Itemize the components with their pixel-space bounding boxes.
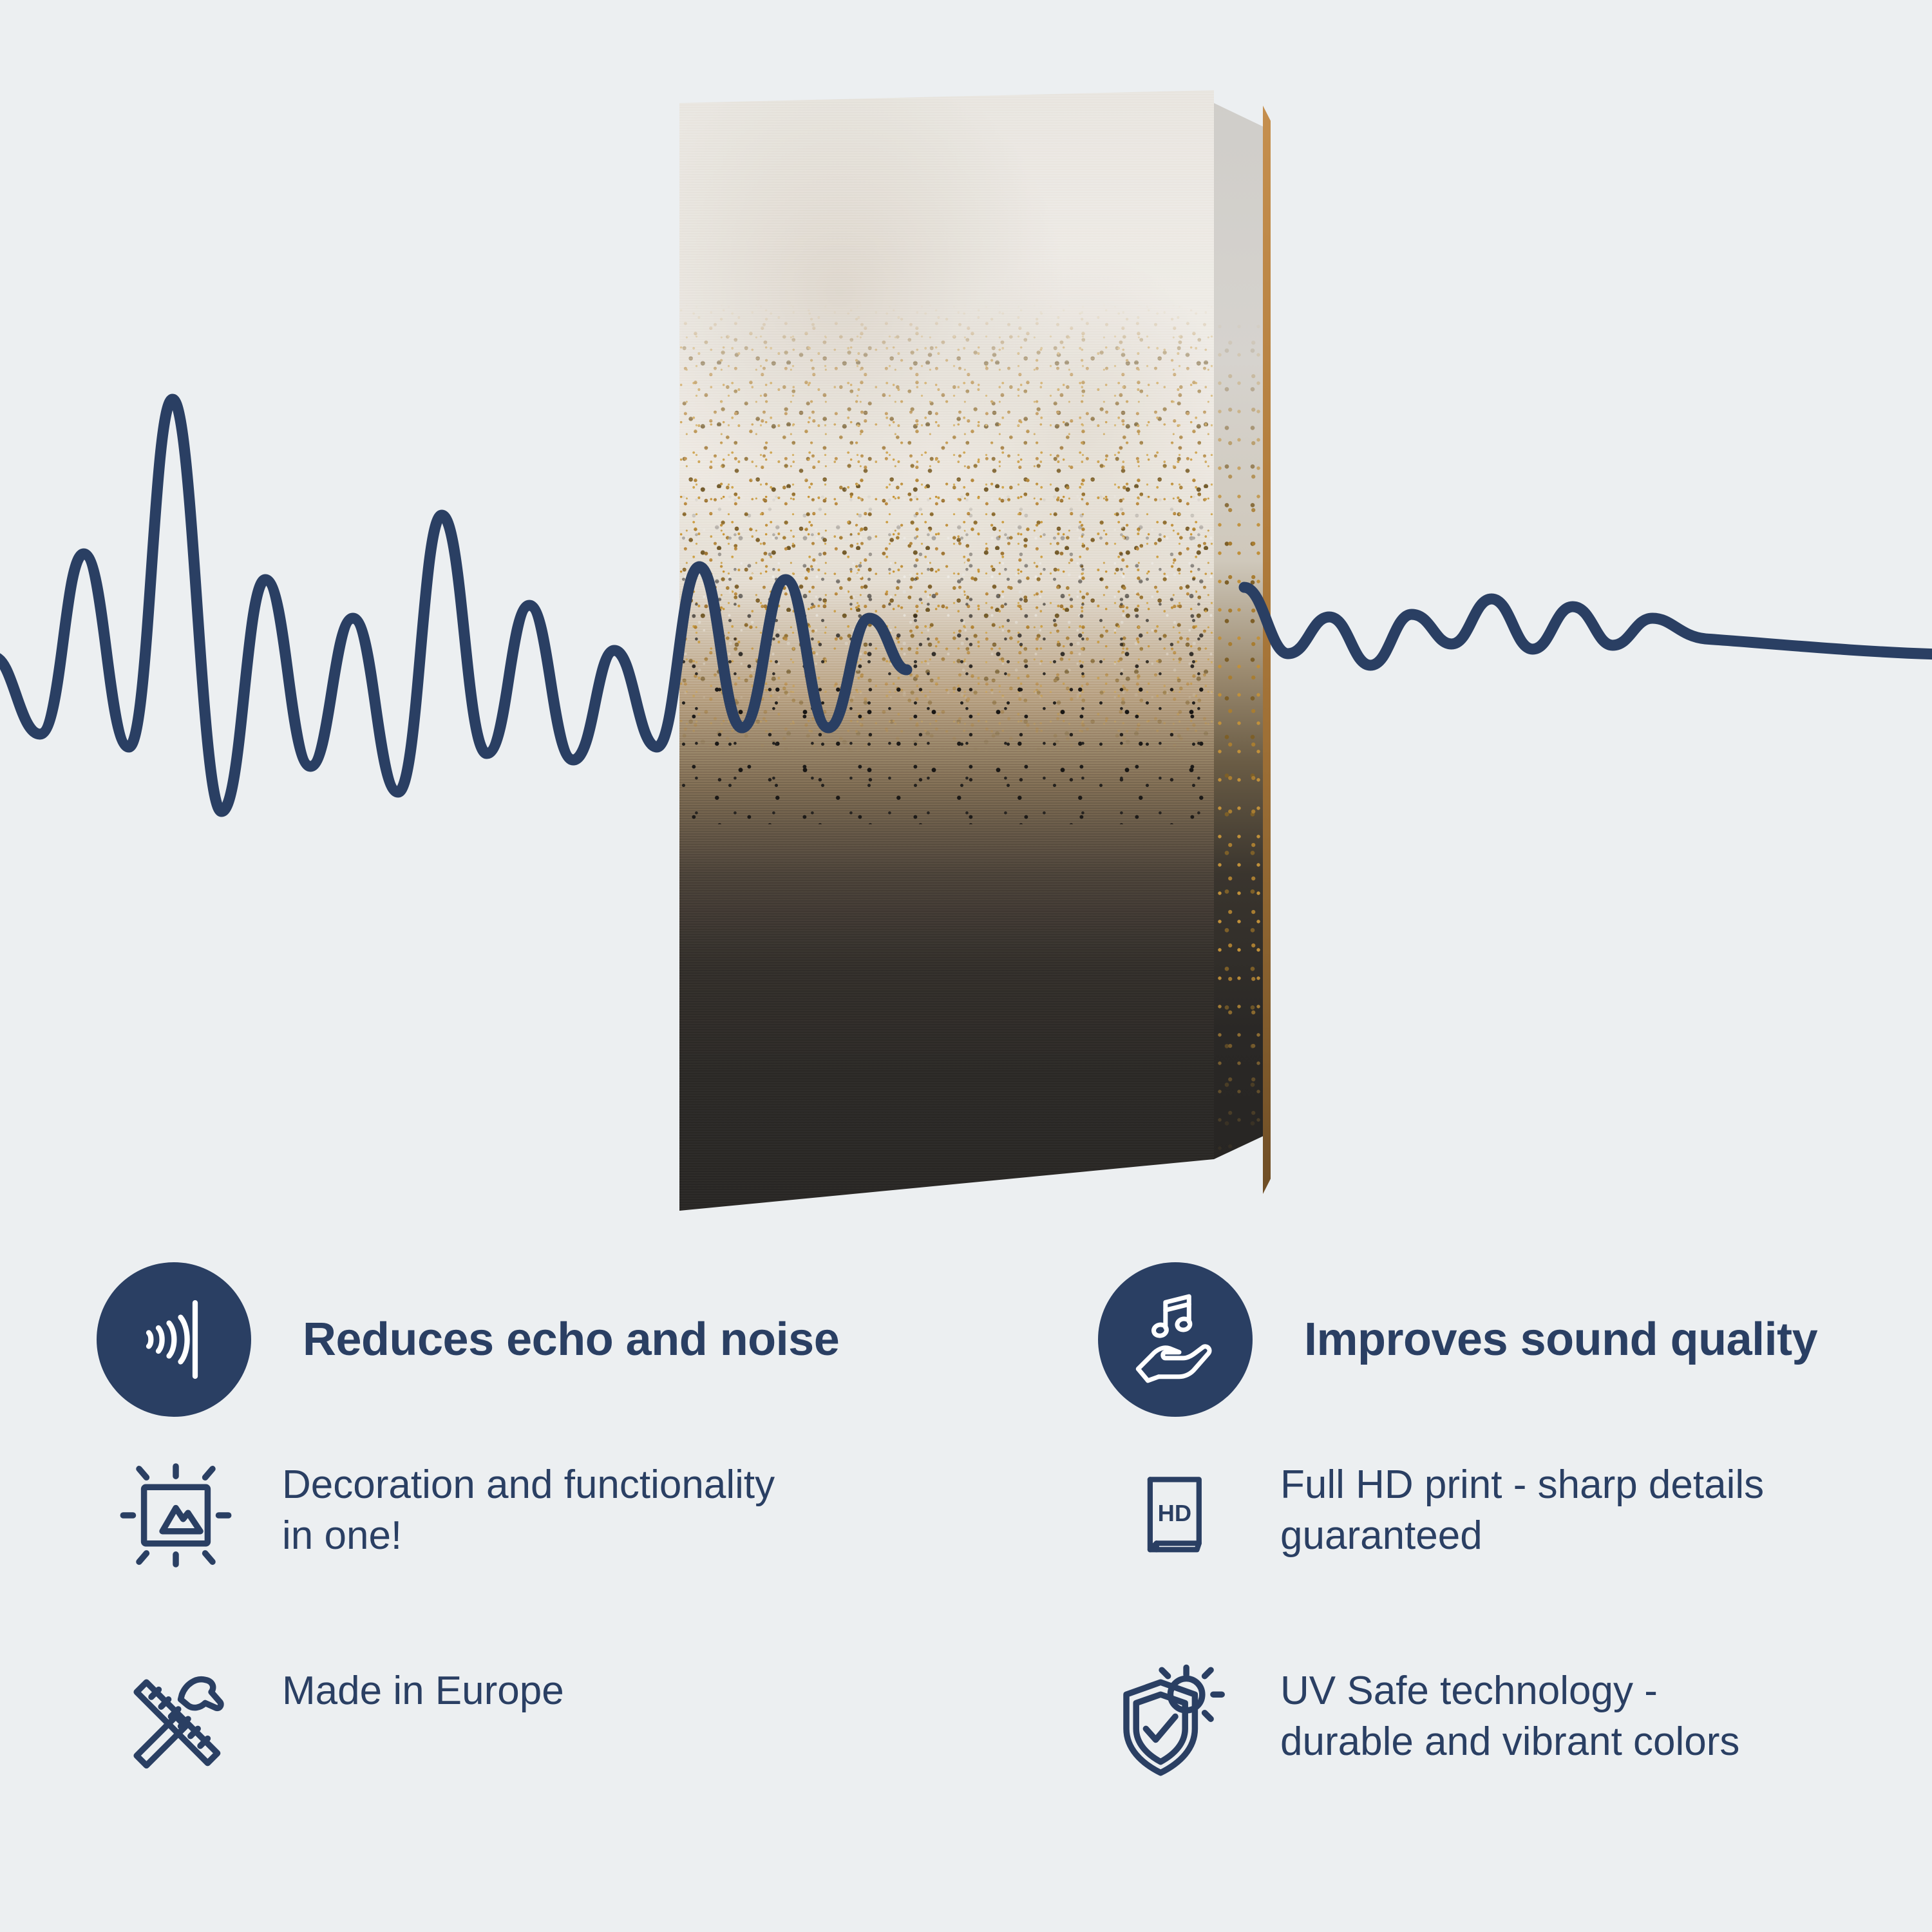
product-infographic: Reduces echo and noise [0, 0, 1932, 1932]
feature-list: Reduces echo and noise [0, 1243, 1932, 1848]
feature-row-primary: Reduces echo and noise [0, 1243, 1932, 1436]
hd-print-icon-wrap: HD [1114, 1454, 1236, 1577]
feature-row-secondary-1: Decoration and functionality in one! HD [0, 1436, 1932, 1642]
feature-uv-safe-technology[interactable]: UV Safe technology - durable and vibrant… [1069, 1642, 1932, 1848]
feature-label: Decoration and functionality in one! [282, 1454, 775, 1562]
sound-wave-left-segment [0, 399, 699, 811]
feature-reduces-echo-and-noise[interactable]: Reduces echo and noise [0, 1243, 1069, 1436]
feature-made-in-europe[interactable]: Made in Europe [0, 1642, 1069, 1848]
feature-decoration-and-functionality[interactable]: Decoration and functionality in one! [0, 1436, 1069, 1642]
hd-print-icon: HD [1122, 1463, 1229, 1569]
artwork-front-face [679, 90, 1214, 1211]
uv-shield-sun-icon-wrap [1114, 1660, 1236, 1783]
canvas-weave-texture [679, 90, 1214, 1211]
feature-label: Made in Europe [282, 1660, 564, 1716]
wooden-stretcher-edge [1263, 106, 1271, 1194]
framed-picture-shine-icon [115, 1454, 237, 1577]
ruler-hammer-icon-wrap [115, 1660, 237, 1783]
feature-improves-sound-quality[interactable]: Improves sound quality [1069, 1243, 1932, 1436]
feature-label: Reduces echo and noise [303, 1313, 839, 1367]
feature-label: UV Safe technology - durable and vibrant… [1280, 1660, 1739, 1768]
hand-music-note-icon [1126, 1291, 1224, 1388]
canvas-artwork-product [679, 77, 1278, 1211]
sound-waves-icon [126, 1291, 222, 1388]
sound-waves-badge [97, 1262, 251, 1417]
feature-label: Improves sound quality [1304, 1313, 1817, 1367]
feature-label: Full HD print - sharp details guaranteed [1280, 1454, 1764, 1562]
side-edge-speckles [1214, 90, 1264, 1211]
feature-row-secondary-2: Made in Europe [0, 1642, 1932, 1848]
feature-full-hd-print[interactable]: HD Full HD print - sharp details guarant… [1069, 1436, 1932, 1642]
sound-wave-right-segment [1244, 587, 1932, 665]
ruler-hammer-icon [115, 1660, 237, 1783]
artwork-side-edge [1214, 90, 1264, 1211]
uv-shield-sun-icon [1114, 1660, 1236, 1783]
hd-badge-text: HD [1157, 1499, 1191, 1526]
framed-picture-shine-icon-wrap [115, 1454, 237, 1577]
hand-music-note-badge [1098, 1262, 1253, 1417]
